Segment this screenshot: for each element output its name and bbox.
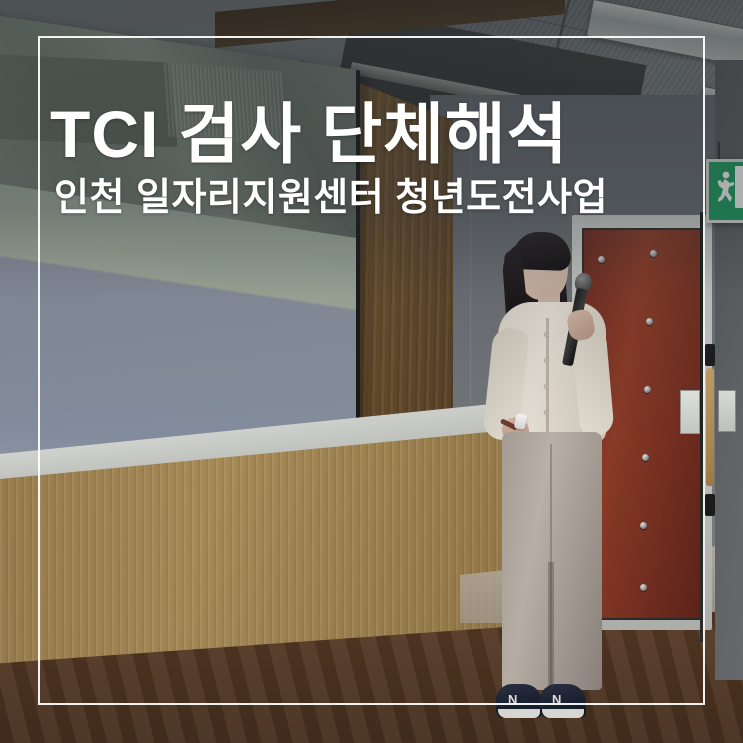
cardigan-button — [544, 358, 549, 363]
door-stud-icon — [640, 584, 647, 591]
running-person-icon — [715, 169, 737, 209]
presenter-shoe-right: N — [540, 684, 586, 718]
wall-switch-plate[interactable] — [718, 390, 736, 432]
exit-sign — [706, 159, 743, 223]
door-handle[interactable] — [706, 368, 714, 486]
door-edge-gap — [700, 212, 705, 642]
wall-switch-plate[interactable] — [680, 390, 700, 434]
cardigan-button — [544, 384, 549, 389]
door-stud-icon — [644, 386, 651, 393]
door-stud-icon — [646, 318, 653, 325]
shoe-logo-label: N — [552, 692, 561, 707]
poster-thumbnail: 1:1 70×70 — [0, 0, 743, 743]
cardigan-button — [544, 332, 549, 337]
presenter-shoe-left: N — [496, 684, 542, 718]
door-stud-icon — [642, 454, 649, 461]
projected-image — [0, 10, 356, 238]
exit-sign-mount — [718, 142, 720, 160]
shoe-logo-label: N — [508, 692, 517, 707]
door-stud-icon — [640, 522, 647, 529]
photo-background: 1:1 70×70 — [0, 0, 743, 743]
door-stud-icon — [650, 250, 657, 257]
presenter-figure: N N — [480, 232, 640, 743]
trouser-leg-gap — [548, 562, 554, 690]
cardigan-button — [544, 410, 549, 415]
